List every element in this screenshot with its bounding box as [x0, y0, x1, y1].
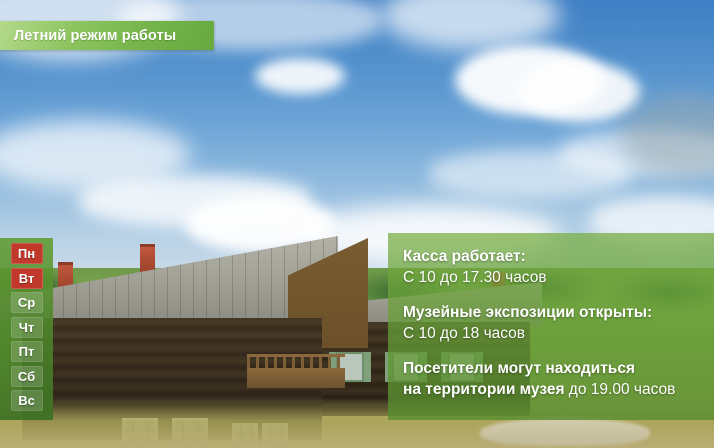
info-block-expositions: Музейные экспозиции открыты: С 10 до 18 …	[403, 302, 704, 344]
opening-hours-panel: Касса работает: С 10 до 17.30 часов Музе…	[388, 233, 714, 420]
day-badge-friday: Пт	[11, 341, 43, 362]
chimney	[140, 244, 155, 273]
izba-main-building	[32, 218, 332, 413]
visitors-hours: до 19.00 часов	[565, 381, 676, 398]
day-badge-wednesday: Ср	[11, 292, 43, 313]
ticket-office-heading: Касса работает:	[403, 246, 704, 267]
info-block-visitors: Посетители могут находиться на территори…	[403, 358, 704, 400]
expositions-hours: С 10 до 18 часов	[403, 323, 704, 344]
info-block-ticket-office: Касса работает: С 10 до 17.30 часов	[403, 246, 704, 288]
day-badge-sunday: Вс	[11, 390, 43, 411]
visitors-heading-line2: на территории музея до 19.00 часов	[403, 379, 704, 400]
cloud	[255, 58, 345, 94]
visitors-heading-line1: Посетители могут находиться	[403, 358, 704, 379]
cloud	[380, 0, 560, 50]
cloud	[430, 150, 630, 198]
visitors-heading-line2-text: на территории музея	[403, 381, 565, 398]
cloud	[520, 62, 640, 122]
day-badge-saturday: Сб	[11, 366, 43, 387]
porch-deck	[247, 368, 345, 388]
stone	[480, 418, 650, 446]
week-days-panel: Пн Вт Ср Чт Пт Сб Вс	[0, 238, 53, 420]
expositions-heading: Музейные экспозиции открыты:	[403, 302, 704, 323]
day-badge-tuesday: Вт	[11, 268, 43, 289]
poster-canvas: Летний режим работы Пн Вт Ср Чт Пт Сб Вс…	[0, 0, 714, 448]
title-banner: Летний режим работы	[0, 21, 214, 50]
day-badge-monday: Пн	[11, 243, 43, 264]
day-badge-thursday: Чт	[11, 317, 43, 338]
banner-title: Летний режим работы	[0, 28, 176, 44]
ticket-office-hours: С 10 до 17.30 часов	[403, 267, 704, 288]
